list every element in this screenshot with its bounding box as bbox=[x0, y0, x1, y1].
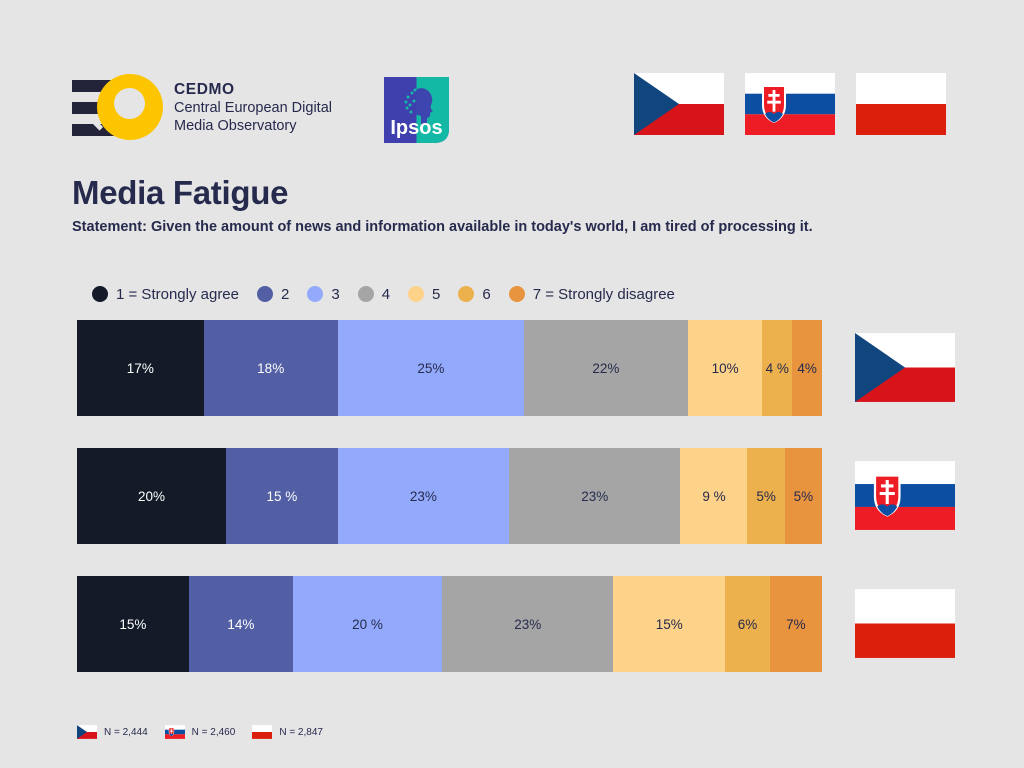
bar-segment-4: 23% bbox=[442, 576, 613, 672]
statement-text: Statement: Given the amount of news and … bbox=[72, 218, 927, 237]
bar-segment-label: 23% bbox=[581, 489, 608, 504]
bar-segment-2: 15 % bbox=[226, 448, 338, 544]
cedmo-logo: CEDMO Central European Digital Media Obs… bbox=[72, 73, 334, 141]
stacked-bar: 20%15 %23%23%9 %5%5% bbox=[77, 448, 822, 544]
page-title: Media Fatigue bbox=[72, 173, 952, 213]
flag-pl-icon bbox=[855, 589, 955, 658]
footer-sample-cz: N = 2,444 bbox=[77, 725, 148, 739]
bar-segment-label: 17% bbox=[127, 361, 154, 376]
legend-item-4: 4 bbox=[358, 286, 390, 303]
bar-segment-label: 23% bbox=[410, 489, 437, 504]
flag-slovakia bbox=[745, 73, 835, 135]
legend-swatch-icon bbox=[307, 286, 323, 302]
legend-label: 2 bbox=[281, 286, 289, 303]
bar-segment-label: 5% bbox=[794, 489, 814, 504]
bar-segment-label: 10% bbox=[712, 361, 739, 376]
footer-sample-pl: N = 2,847 bbox=[252, 725, 323, 739]
bar-segment-7: 4% bbox=[792, 320, 822, 416]
bar-segment-3: 20 % bbox=[293, 576, 442, 672]
legend-label: 5 bbox=[432, 286, 440, 303]
cedmo-tagline-line2: Media Observatory bbox=[174, 117, 332, 135]
bar-segment-5: 9 % bbox=[680, 448, 747, 544]
cedmo-wordmark: CEDMO Central European Digital Media Obs… bbox=[174, 80, 332, 135]
stacked-bar: 17%18%25%22%10%4 %4% bbox=[77, 320, 822, 416]
bar-segment-label: 15% bbox=[119, 617, 146, 632]
legend-label: 3 bbox=[331, 286, 339, 303]
flag-poland bbox=[856, 73, 946, 135]
row-flag-sk bbox=[855, 461, 955, 535]
bar-segment-label: 18% bbox=[257, 361, 284, 376]
ipsos-logo-icon: Ipsos bbox=[384, 77, 449, 143]
bar-segment-2: 14% bbox=[189, 576, 293, 672]
bar-segment-label: 25% bbox=[417, 361, 444, 376]
flag-sk-icon bbox=[165, 725, 185, 739]
stacked-bar-chart: 17%18%25%22%10%4 %4%20%15 %23%23%9 %5%5%… bbox=[0, 320, 1024, 704]
flag-cz-icon bbox=[855, 333, 955, 402]
cedmo-name: CEDMO bbox=[174, 80, 332, 99]
bar-row-cz: 17%18%25%22%10%4 %4% bbox=[0, 320, 1024, 416]
bar-segment-7: 7% bbox=[770, 576, 822, 672]
legend-item-7: 7 = Strongly disagree bbox=[509, 286, 675, 303]
bar-segment-label: 14% bbox=[227, 617, 254, 632]
title-block: Media Fatigue Statement: Given the amoun… bbox=[72, 173, 952, 237]
bar-segment-label: 4% bbox=[797, 361, 817, 376]
sample-size-label: N = 2,847 bbox=[279, 727, 323, 738]
bar-row-pl: 15%14%20 %23%15%6%7% bbox=[0, 576, 1024, 672]
bar-segment-label: 22% bbox=[592, 361, 619, 376]
row-flag-cz bbox=[855, 333, 955, 407]
cedmo-magnifier-icon bbox=[72, 74, 164, 140]
bar-segment-label: 23% bbox=[514, 617, 541, 632]
row-flag-pl bbox=[855, 589, 955, 663]
ipsos-logo: Ipsos bbox=[384, 77, 449, 143]
bar-segment-label: 6% bbox=[738, 617, 758, 632]
flag-czech-republic-icon bbox=[634, 73, 724, 135]
legend-swatch-icon bbox=[458, 286, 474, 302]
legend-swatch-icon bbox=[92, 286, 108, 302]
cedmo-tagline-line1: Central European Digital bbox=[174, 99, 332, 117]
legend-swatch-icon bbox=[257, 286, 273, 302]
sample-size-footer: N = 2,444N = 2,460N = 2,847 bbox=[77, 723, 340, 741]
legend-swatch-icon bbox=[358, 286, 374, 302]
bar-segment-1: 15% bbox=[77, 576, 189, 672]
flag-czech-republic bbox=[634, 73, 724, 135]
bar-segment-5: 15% bbox=[613, 576, 725, 672]
bar-segment-3: 23% bbox=[338, 448, 509, 544]
header: CEDMO Central European Digital Media Obs… bbox=[0, 0, 1024, 160]
bar-segment-label: 20 % bbox=[352, 617, 383, 632]
legend-label: 6 bbox=[482, 286, 490, 303]
sample-size-label: N = 2,444 bbox=[104, 727, 148, 738]
infographic-page: CEDMO Central European Digital Media Obs… bbox=[0, 0, 1024, 768]
stacked-bar: 15%14%20 %23%15%6%7% bbox=[77, 576, 822, 672]
bar-segment-1: 20% bbox=[77, 448, 226, 544]
cedmo-ring-icon bbox=[97, 74, 163, 140]
flag-slovakia-icon bbox=[745, 73, 835, 135]
chart-legend: 1 = Strongly agree234567 = Strongly disa… bbox=[92, 282, 693, 306]
flag-pl-icon bbox=[252, 725, 272, 739]
bar-segment-4: 22% bbox=[524, 320, 688, 416]
header-flag-group bbox=[634, 73, 960, 141]
legend-label: 7 = Strongly disagree bbox=[533, 286, 675, 303]
bar-segment-label: 15 % bbox=[266, 489, 297, 504]
legend-item-1: 1 = Strongly agree bbox=[92, 286, 239, 303]
bar-row-sk: 20%15 %23%23%9 %5%5% bbox=[0, 448, 1024, 544]
legend-label: 4 bbox=[382, 286, 390, 303]
legend-item-3: 3 bbox=[307, 286, 339, 303]
legend-swatch-icon bbox=[408, 286, 424, 302]
legend-item-6: 6 bbox=[458, 286, 490, 303]
flag-sk-icon bbox=[855, 461, 955, 530]
flag-poland-icon bbox=[856, 73, 946, 135]
bar-segment-label: 9 % bbox=[702, 489, 725, 504]
legend-item-2: 2 bbox=[257, 286, 289, 303]
legend-item-5: 5 bbox=[408, 286, 440, 303]
bar-segment-7: 5% bbox=[785, 448, 822, 544]
sample-size-label: N = 2,460 bbox=[192, 727, 236, 738]
legend-label: 1 = Strongly agree bbox=[116, 286, 239, 303]
bar-segment-2: 18% bbox=[204, 320, 338, 416]
bar-segment-1: 17% bbox=[77, 320, 204, 416]
bar-segment-6: 5% bbox=[747, 448, 784, 544]
bar-segment-6: 6% bbox=[725, 576, 770, 672]
bar-segment-4: 23% bbox=[509, 448, 680, 544]
legend-swatch-icon bbox=[509, 286, 525, 302]
footer-sample-sk: N = 2,460 bbox=[165, 725, 236, 739]
bar-segment-label: 15% bbox=[656, 617, 683, 632]
svg-text:Ipsos: Ipsos bbox=[390, 117, 442, 139]
bar-segment-label: 7% bbox=[786, 617, 806, 632]
bar-segment-3: 25% bbox=[338, 320, 524, 416]
bar-segment-5: 10% bbox=[688, 320, 763, 416]
bar-segment-label: 5% bbox=[756, 489, 776, 504]
bar-segment-label: 20% bbox=[138, 489, 165, 504]
bar-segment-label: 4 % bbox=[766, 361, 789, 376]
flag-cz-icon bbox=[77, 725, 97, 739]
bar-segment-6: 4 % bbox=[762, 320, 792, 416]
